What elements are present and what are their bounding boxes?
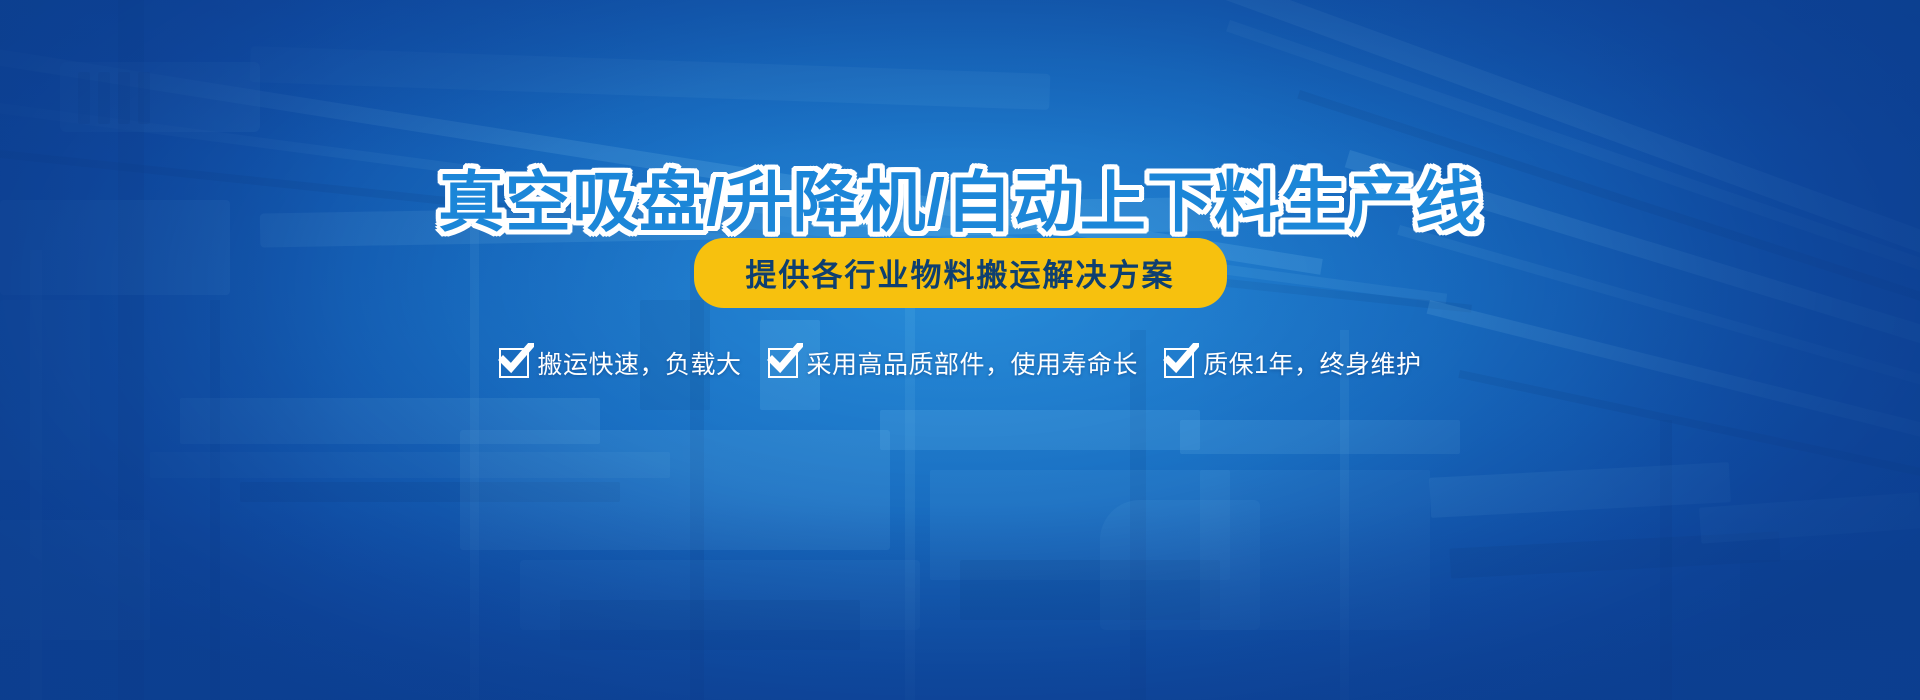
feature-label: 采用高品质部件，使用寿命长 xyxy=(807,345,1139,381)
feature-label: 搬运快速，负载大 xyxy=(538,345,742,381)
feature-item: 采用高品质部件，使用寿命长 xyxy=(768,345,1139,381)
page-title: 真空吸盘/升降机/自动上下料生产线 xyxy=(0,166,1920,240)
subtitle-pill-button[interactable]: 提供各行业物料搬运解决方案 xyxy=(694,238,1227,308)
check-square-icon xyxy=(1164,348,1194,378)
feature-label: 质保1年，终身维护 xyxy=(1203,345,1421,381)
feature-item: 搬运快速，负载大 xyxy=(499,345,742,381)
banner-content: 真空吸盘/升降机/自动上下料生产线 提供各行业物料搬运解决方案 搬运快速，负载大 xyxy=(0,0,1920,700)
subtitle-row: 提供各行业物料搬运解决方案 xyxy=(0,238,1920,308)
check-square-icon xyxy=(499,348,529,378)
feature-item: 质保1年，终身维护 xyxy=(1164,345,1421,381)
feature-list: 搬运快速，负载大 采用高品质部件，使用寿命长 质保1年，终身维护 xyxy=(0,345,1920,381)
check-square-icon xyxy=(768,348,798,378)
hero-banner: 真空吸盘/升降机/自动上下料生产线 提供各行业物料搬运解决方案 搬运快速，负载大 xyxy=(0,0,1920,700)
